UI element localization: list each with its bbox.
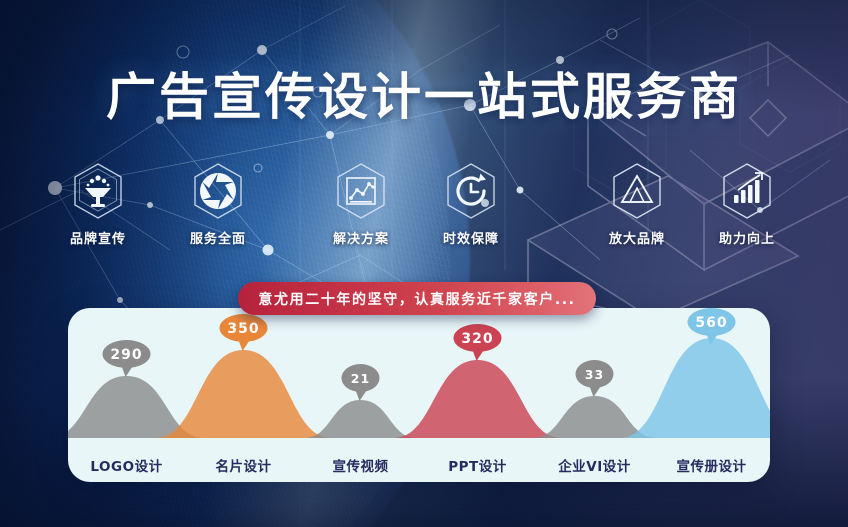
chart-value-text: 21 — [351, 371, 370, 386]
chart-category-label: PPT设计 — [419, 455, 536, 475]
feature-item-brand[interactable]: 品牌宣传 — [43, 158, 153, 247]
pyramid-icon — [582, 158, 692, 224]
chart-card: 2903502132033560 LOGO设计名片设计宣传视频PPT设计企业VI… — [68, 308, 770, 482]
chart-value-text: 320 — [461, 331, 493, 347]
feature-label: 品牌宣传 — [43, 228, 153, 247]
chart-category-label: 宣传视频 — [302, 455, 419, 475]
chart-value-text: 560 — [695, 315, 727, 331]
bell-curve-chart: 2903502132033560 — [68, 308, 770, 450]
chart-value-bubble: 350 — [220, 314, 268, 351]
chart-category-label: 名片设计 — [185, 455, 302, 475]
bar-growth-icon — [692, 158, 802, 224]
chart-curve — [394, 360, 562, 438]
chart-curve — [156, 350, 332, 438]
chart-category-label: 企业VI设计 — [536, 455, 653, 475]
promo-ribbon-text: 意尤用二十年的坚守，认真服务近千家客户... — [258, 289, 575, 309]
feature-item-service[interactable]: 服务全面 — [163, 158, 273, 247]
chart-curve — [620, 338, 771, 438]
feature-item-amplify[interactable]: 放大品牌 — [582, 158, 692, 247]
line-chart-icon — [306, 158, 416, 224]
page-title: 广告宣传设计一站式服务商 — [0, 57, 848, 129]
feature-label: 服务全面 — [163, 228, 273, 247]
promo-ribbon: 意尤用二十年的坚守，认真服务近千家客户... — [238, 282, 596, 315]
feature-label: 放大品牌 — [582, 228, 692, 247]
chart-category-labels: LOGO设计名片设计宣传视频PPT设计企业VI设计宣传册设计 — [68, 448, 770, 482]
chart-value-bubble: 290 — [103, 340, 151, 377]
feature-label: 助力向上 — [692, 228, 802, 247]
chart-value-bubble: 33 — [576, 360, 614, 397]
chart-category-label: 宣传册设计 — [653, 455, 770, 475]
feature-item-growth[interactable]: 助力向上 — [692, 158, 802, 247]
chart-value-bubble: 560 — [688, 308, 736, 345]
clock-icon — [416, 158, 526, 224]
feature-label: 时效保障 — [416, 228, 526, 247]
chart-value-text: 350 — [227, 321, 259, 337]
feature-item-solution[interactable]: 解决方案 — [306, 158, 416, 247]
chart-category-label: LOGO设计 — [68, 455, 185, 475]
aperture-icon — [163, 158, 273, 224]
feature-label: 解决方案 — [306, 228, 416, 247]
feature-list: 品牌宣传 服务全面 — [0, 158, 848, 250]
chart-value-text: 290 — [110, 347, 142, 363]
chart-value-text: 33 — [585, 367, 604, 382]
chart-value-bubble: 21 — [342, 364, 380, 401]
chart-curve — [305, 400, 417, 438]
chart-value-bubble: 320 — [454, 324, 502, 361]
megaphone-icon — [43, 158, 153, 224]
banner-stage: 广告宣传设计一站式服务商 品牌宣传 — [0, 0, 848, 527]
feature-item-timeliness[interactable]: 时效保障 — [416, 158, 526, 247]
